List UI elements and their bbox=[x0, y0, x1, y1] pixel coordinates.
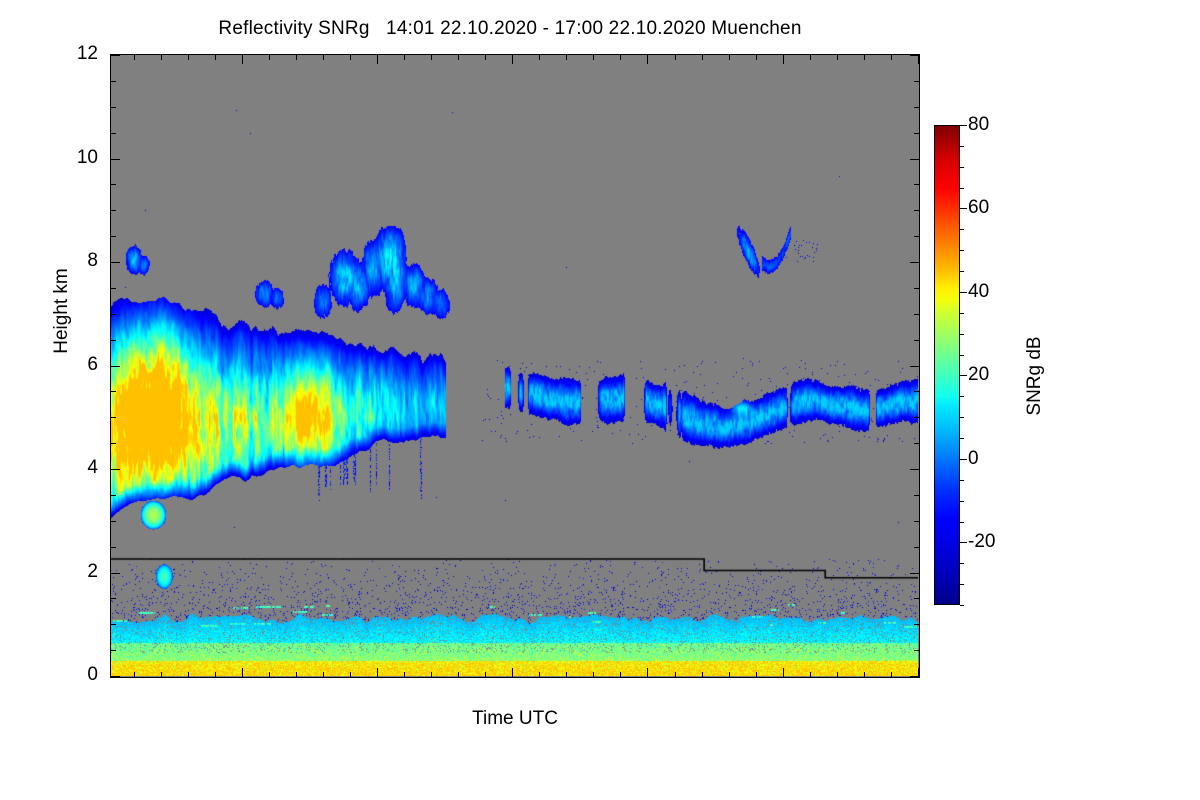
x-tick-top bbox=[485, 55, 486, 60]
y-tick bbox=[111, 573, 120, 574]
x-tick bbox=[539, 672, 540, 677]
x-tick bbox=[837, 672, 838, 677]
y-tick-right bbox=[914, 184, 919, 185]
x-tick-top bbox=[188, 55, 189, 60]
x-tick-top bbox=[810, 55, 811, 60]
x-tick bbox=[647, 668, 648, 677]
colorbar-tick-label: 20 bbox=[968, 364, 989, 386]
x-tick bbox=[864, 672, 865, 677]
y-tick bbox=[111, 288, 116, 289]
x-tick bbox=[756, 672, 757, 677]
colorbar-tick bbox=[960, 542, 967, 543]
x-tick bbox=[458, 672, 459, 677]
x-tick-top bbox=[729, 55, 730, 60]
y-tick-right bbox=[914, 650, 919, 651]
y-tick-right bbox=[914, 210, 919, 211]
y-tick-right bbox=[914, 133, 919, 134]
colorbar-tick-label: 80 bbox=[968, 114, 989, 136]
y-tick-right bbox=[914, 521, 919, 522]
colorbar-tick bbox=[960, 501, 964, 502]
y-tick-right bbox=[910, 573, 919, 574]
x-tick bbox=[161, 672, 162, 677]
y-tick bbox=[111, 443, 116, 444]
colorbar-tick bbox=[960, 188, 964, 189]
x-tick-top bbox=[783, 55, 784, 64]
x-tick bbox=[215, 672, 216, 677]
reflectivity-heatmap bbox=[111, 55, 918, 676]
page-title: Reflectivity SNRg 14:01 22.10.2020 - 17:… bbox=[0, 18, 1020, 40]
y-tick-right bbox=[914, 107, 919, 108]
y-tick bbox=[111, 107, 116, 108]
y-tick-right bbox=[914, 314, 919, 315]
x-tick-top bbox=[837, 55, 838, 60]
y-tick-right bbox=[910, 366, 919, 367]
colorbar-tick bbox=[960, 334, 964, 335]
colorbar-tick bbox=[960, 208, 967, 209]
x-tick-top bbox=[431, 55, 432, 60]
y-tick-right bbox=[910, 262, 919, 263]
colorbar-tick bbox=[960, 396, 964, 397]
colorbar-tick bbox=[960, 375, 967, 376]
y-tick bbox=[111, 314, 116, 315]
y-tick bbox=[111, 210, 116, 211]
y-axis-label: Height km bbox=[51, 211, 73, 411]
x-tick-top bbox=[404, 55, 405, 60]
y-tick-right bbox=[910, 469, 919, 470]
y-tick-right bbox=[914, 340, 919, 341]
x-tick bbox=[810, 672, 811, 677]
x-tick-top bbox=[215, 55, 216, 60]
colorbar-tick bbox=[960, 563, 964, 564]
colorbar-label: SNRg dB bbox=[1024, 276, 1046, 476]
y-tick-right bbox=[914, 598, 919, 599]
y-tick bbox=[111, 133, 116, 134]
colorbar-tick bbox=[960, 167, 964, 168]
colorbar-tick bbox=[960, 229, 964, 230]
x-tick-top bbox=[350, 55, 351, 60]
colorbar-tick bbox=[960, 146, 964, 147]
colorbar-tick bbox=[960, 313, 964, 314]
colorbar-gradient bbox=[934, 125, 960, 605]
x-tick-top bbox=[512, 55, 513, 64]
x-tick bbox=[891, 672, 892, 677]
x-tick-top bbox=[161, 55, 162, 60]
colorbar-tick bbox=[960, 125, 967, 126]
y-tick-right bbox=[914, 417, 919, 418]
x-tick bbox=[512, 668, 513, 677]
x-tick bbox=[675, 672, 676, 677]
colorbar-tick bbox=[960, 438, 964, 439]
y-tick bbox=[111, 676, 120, 677]
x-tick bbox=[242, 668, 243, 677]
colorbar bbox=[934, 125, 960, 605]
x-tick-top bbox=[269, 55, 270, 60]
x-tick bbox=[593, 672, 594, 677]
x-tick-top bbox=[891, 55, 892, 60]
y-tick-right bbox=[910, 676, 919, 677]
y-tick-label: 4 bbox=[40, 457, 98, 479]
y-tick-right bbox=[914, 443, 919, 444]
x-tick bbox=[702, 672, 703, 677]
y-tick bbox=[111, 236, 116, 237]
y-tick-right bbox=[914, 288, 919, 289]
y-tick bbox=[111, 81, 116, 82]
colorbar-tick bbox=[960, 459, 967, 460]
x-axis-label: Time UTC bbox=[110, 708, 920, 730]
x-tick bbox=[188, 672, 189, 677]
x-tick-top bbox=[242, 55, 243, 64]
plot-area bbox=[110, 54, 920, 678]
y-tick bbox=[111, 366, 120, 367]
colorbar-tick bbox=[960, 584, 964, 585]
x-tick bbox=[269, 672, 270, 677]
y-tick-right bbox=[914, 547, 919, 548]
x-tick-top bbox=[756, 55, 757, 60]
colorbar-tick-label: 60 bbox=[968, 197, 989, 219]
y-tick-right bbox=[914, 81, 919, 82]
x-tick-top bbox=[593, 55, 594, 60]
colorbar-tick bbox=[960, 292, 967, 293]
radar-quicklook-figure: Reflectivity SNRg 14:01 22.10.2020 - 17:… bbox=[0, 0, 1200, 800]
y-tick-right bbox=[914, 236, 919, 237]
x-tick bbox=[566, 672, 567, 677]
y-tick bbox=[111, 55, 120, 56]
y-tick-right bbox=[914, 495, 919, 496]
x-tick-top bbox=[377, 55, 378, 64]
y-tick bbox=[111, 624, 116, 625]
y-tick bbox=[111, 598, 116, 599]
y-tick bbox=[111, 159, 120, 160]
x-tick-top bbox=[620, 55, 621, 60]
colorbar-tick bbox=[960, 271, 964, 272]
x-tick-top bbox=[566, 55, 567, 60]
x-tick-top bbox=[134, 55, 135, 60]
x-tick-top bbox=[918, 55, 919, 64]
x-tick-top bbox=[864, 55, 865, 60]
y-tick-label: 12 bbox=[40, 43, 98, 65]
y-tick-label: 10 bbox=[40, 147, 98, 169]
x-tick bbox=[134, 672, 135, 677]
x-tick bbox=[485, 672, 486, 677]
x-tick-top bbox=[323, 55, 324, 60]
x-tick bbox=[729, 672, 730, 677]
x-tick bbox=[350, 672, 351, 677]
colorbar-tick bbox=[960, 605, 964, 606]
x-tick-top bbox=[702, 55, 703, 60]
x-tick bbox=[296, 672, 297, 677]
y-tick bbox=[111, 547, 116, 548]
colorbar-tick bbox=[960, 522, 964, 523]
x-tick bbox=[377, 668, 378, 677]
colorbar-tick-label: -20 bbox=[968, 531, 995, 553]
y-tick bbox=[111, 340, 116, 341]
y-tick bbox=[111, 469, 120, 470]
colorbar-tick-label: 40 bbox=[968, 281, 989, 303]
colorbar-tick bbox=[960, 355, 964, 356]
y-tick bbox=[111, 495, 116, 496]
colorbar-tick-label: 0 bbox=[968, 448, 979, 470]
y-tick-right bbox=[914, 624, 919, 625]
y-tick-right bbox=[914, 391, 919, 392]
y-tick bbox=[111, 184, 116, 185]
y-tick-right bbox=[910, 159, 919, 160]
x-tick bbox=[783, 668, 784, 677]
x-tick bbox=[620, 672, 621, 677]
y-tick-label: 2 bbox=[40, 561, 98, 583]
colorbar-tick bbox=[960, 480, 964, 481]
y-tick bbox=[111, 391, 116, 392]
y-tick bbox=[111, 650, 116, 651]
colorbar-tick bbox=[960, 250, 964, 251]
x-tick-top bbox=[539, 55, 540, 60]
y-tick bbox=[111, 521, 116, 522]
y-tick-right bbox=[910, 55, 919, 56]
colorbar-tick bbox=[960, 417, 964, 418]
x-tick bbox=[431, 672, 432, 677]
x-tick-top bbox=[675, 55, 676, 60]
y-tick bbox=[111, 262, 120, 263]
y-tick-label: 0 bbox=[40, 664, 98, 686]
y-tick bbox=[111, 417, 116, 418]
x-tick-top bbox=[647, 55, 648, 64]
x-tick bbox=[404, 672, 405, 677]
x-tick bbox=[323, 672, 324, 677]
x-tick-top bbox=[296, 55, 297, 60]
x-tick-top bbox=[458, 55, 459, 60]
